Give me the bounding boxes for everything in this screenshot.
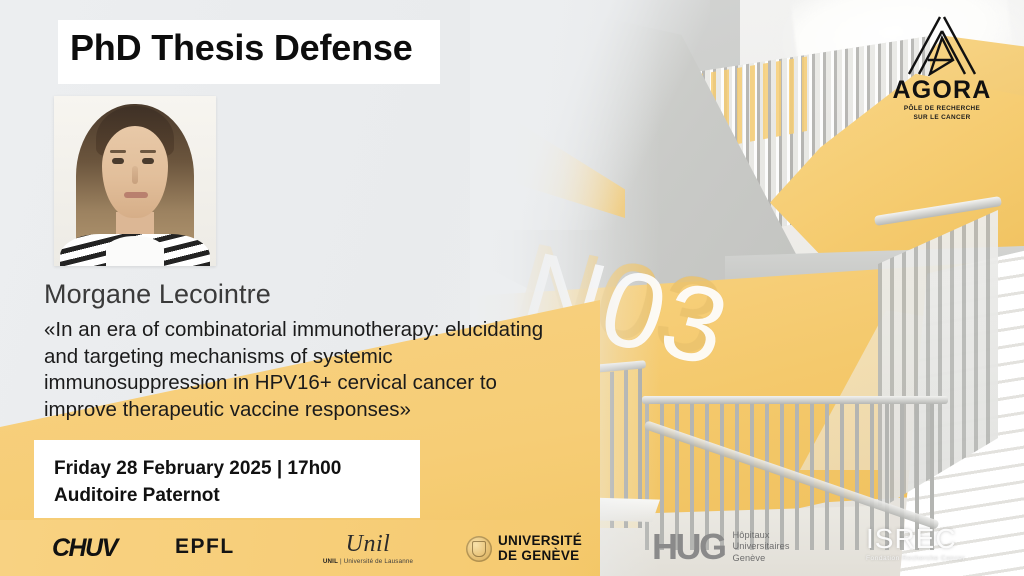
epfl-wordmark: EPFL (175, 535, 235, 558)
speaker-name: Morgane Lecointre (44, 279, 271, 310)
agora-tagline-line1: PÔLE DE RECHERCHE (872, 104, 1012, 113)
unil-subtitle-bold: UNIL (323, 558, 338, 565)
poster-canvas: N03 N03 PhD Thesis Defense (0, 0, 1024, 576)
unil-subtitle: UNIL | Université de Lausanne (303, 558, 433, 565)
portrait-nose (132, 166, 138, 184)
hug-wordmark: HUG (652, 532, 725, 562)
portrait-eyebrow-right (140, 150, 156, 153)
thesis-title: «In an era of combinatorial immunotherap… (44, 317, 564, 423)
event-venue: Auditoire Paternot (54, 482, 341, 509)
logo-unil: Unil UNIL | Université de Lausanne (303, 533, 433, 565)
agora-a-monogram-icon (906, 14, 978, 76)
agora-wordmark: AGORA (872, 76, 1012, 105)
event-details: Friday 28 February 2025 | 17h00 Auditoir… (54, 455, 341, 509)
hug-subtitle: Hôpitaux Universitaires Genève (733, 530, 790, 565)
chuv-wordmark: CHUV (52, 534, 117, 562)
agora-tagline-line2: SUR LE CANCER (872, 113, 1012, 122)
portrait-shirt-inner (106, 236, 164, 266)
hug-line3: Genève (733, 553, 790, 565)
photo-topleft-fade (470, 0, 710, 230)
logo-isrec: ISREC Fondation Recherche Cancer (866, 525, 965, 562)
hug-line2: Universitaires (733, 541, 790, 553)
unil-script-mark: Unil (303, 533, 433, 555)
portrait-eyebrow-left (110, 150, 126, 153)
speaker-portrait (54, 96, 216, 266)
unige-line2: DE GENÈVE (498, 549, 582, 564)
logo-unige: UNIVERSITÉ DE GENÈVE (466, 534, 582, 563)
portrait-eye-left (112, 158, 124, 164)
unil-subtitle-rest: | Université de Lausanne (338, 558, 413, 565)
hug-line1: Hôpitaux (733, 530, 790, 542)
portrait-mouth (124, 192, 148, 198)
page-title: PhD Thesis Defense (70, 25, 413, 71)
photo-center-handrail (642, 396, 948, 404)
isrec-wordmark: ISREC (866, 525, 965, 553)
logo-chuv: CHUV (52, 534, 117, 562)
logo-hug: HUG Hôpitaux Universitaires Genève (652, 530, 790, 565)
unige-seal-icon (466, 536, 492, 562)
logo-epfl: EPFL (175, 535, 235, 559)
agora-logo: AGORA PÔLE DE RECHERCHE SUR LE CANCER (872, 14, 1012, 126)
isrec-subtitle: Fondation Recherche Cancer (866, 555, 965, 562)
event-date-time: Friday 28 February 2025 | 17h00 (54, 455, 341, 482)
unige-wordmark: UNIVERSITÉ DE GENÈVE (498, 534, 582, 563)
unige-line1: UNIVERSITÉ (498, 534, 582, 549)
portrait-eye-right (142, 158, 154, 164)
agora-tagline: PÔLE DE RECHERCHE SUR LE CANCER (872, 104, 1012, 122)
